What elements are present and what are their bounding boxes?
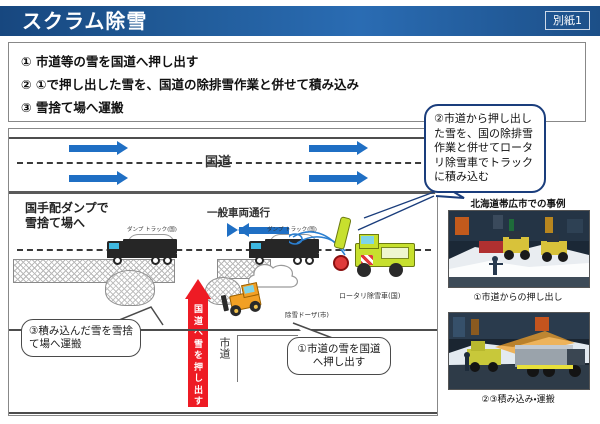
snow-push-arrow: 国道へ雪を押し出す bbox=[185, 279, 211, 407]
rotary-snowplow-label: ロータリ除雪車(国) bbox=[339, 291, 400, 301]
photo-pushing-out bbox=[448, 210, 590, 288]
dump-dispatch-note-line1: 国手配ダンプで bbox=[25, 201, 109, 215]
snow-removal-diagram: 国道 一般車両通行 国手配ダンプで 雪捨て場へ ダンプ トラック(国) ダンプ … bbox=[8, 128, 438, 416]
callout-step-1: ①市道の雪を国道へ押し出す bbox=[287, 337, 391, 375]
slide-root: スクラム除雪 別紙1 ① 市道等の雪を国道へ押し出す ② ①で押し出した雪を、国… bbox=[0, 0, 600, 424]
rotary-snowplow-icon bbox=[335, 233, 415, 281]
traffic-arrow-right-3 bbox=[309, 143, 371, 153]
road-edge-city-bottom bbox=[9, 412, 438, 414]
attachment-badge: 別紙1 bbox=[545, 11, 590, 30]
general-traffic-label: 一般車両通行 bbox=[207, 205, 270, 220]
road-edge-top bbox=[9, 137, 438, 139]
callout-step-2: ②市道から押し出した雪を、国の除排雪作業と併せてロータリ除雪車でトラックに積み込… bbox=[424, 104, 546, 193]
callout-2-pointer-lines bbox=[330, 190, 440, 238]
traffic-arrow-right-2 bbox=[69, 173, 131, 183]
photo-loading-transport bbox=[448, 312, 590, 390]
step-item-2: ② ①で押し出した雪を、国道の除排雪作業と併せて積み込み bbox=[21, 74, 359, 93]
city-road-label: 市道 bbox=[217, 337, 232, 359]
photo-caption-2: ②③積み込み・運搬 bbox=[444, 392, 592, 405]
national-road-label: 国道 bbox=[205, 151, 231, 170]
callout-step-3: ③積み込んだ雪を雪捨て場へ運搬 bbox=[21, 319, 141, 357]
page-title: スクラム除雪 bbox=[22, 10, 147, 32]
step-item-1: ① 市道等の雪を国道へ押し出す bbox=[21, 51, 198, 70]
traffic-arrow-right-1 bbox=[69, 143, 131, 153]
slide-header-bar: スクラム除雪 別紙1 bbox=[0, 6, 600, 36]
dump-truck-1-icon bbox=[107, 237, 177, 267]
traffic-arrow-right-4 bbox=[309, 173, 371, 183]
dump-truck-1-label: ダンプ トラック(国) bbox=[127, 225, 177, 233]
snow-pile-a bbox=[105, 270, 155, 306]
photo-panel: 北海道帯広市での事例 bbox=[444, 196, 592, 418]
photo-panel-heading: 北海道帯広市での事例 bbox=[444, 196, 592, 210]
dump-dispatch-note: 国手配ダンプで 雪捨て場へ bbox=[25, 201, 109, 231]
snow-dozer-label: 除雪ドーザ(市) bbox=[285, 309, 329, 319]
photo-caption-1: ①市道からの押し出し bbox=[444, 290, 592, 303]
step-item-3: ③ 雪捨て場へ運搬 bbox=[21, 97, 123, 116]
dump-dispatch-note-line2: 雪捨て場へ bbox=[25, 216, 85, 230]
snow-push-arrow-label: 国道へ雪を押し出す bbox=[192, 305, 205, 409]
